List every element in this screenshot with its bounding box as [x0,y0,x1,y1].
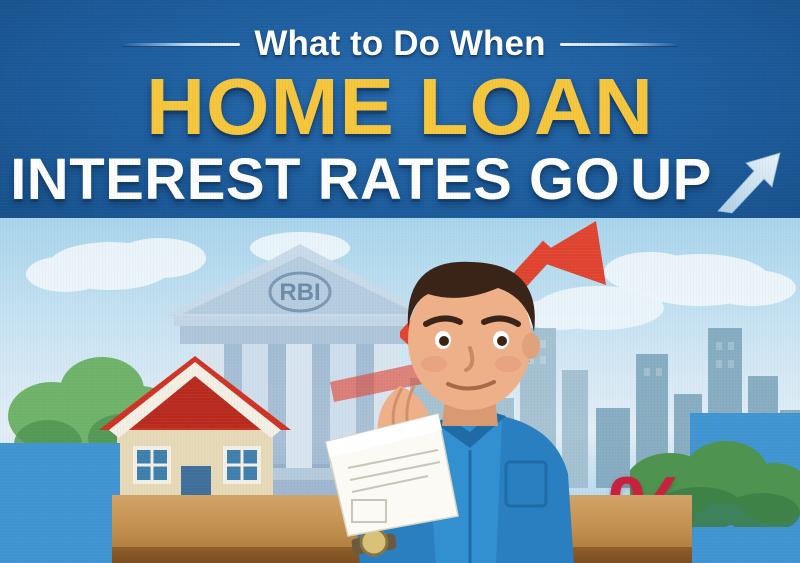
headline-up-word: UP [630,151,712,209]
water-left [0,443,120,563]
kicker-rule-left [122,43,240,46]
illustration-scene: RBI [0,218,800,563]
kicker-text: What to Do When [254,24,545,64]
infographic-poster: What to Do When HOME LOAN INTEREST RATES… [0,0,800,563]
headline-primary: HOME LOAN [0,68,800,146]
headline-secondary: INTEREST RATES GO [10,151,620,209]
header-band: What to Do When HOME LOAN INTEREST RATES… [0,0,800,218]
kicker-row: What to Do When [0,22,800,66]
bank-logo-text: RBI [279,279,320,306]
up-right-arrow-icon [710,141,790,215]
kicker-rule-right [560,43,678,46]
loan-document-held [318,408,463,538]
headline-secondary-row: INTEREST RATES GO UP [0,142,800,218]
